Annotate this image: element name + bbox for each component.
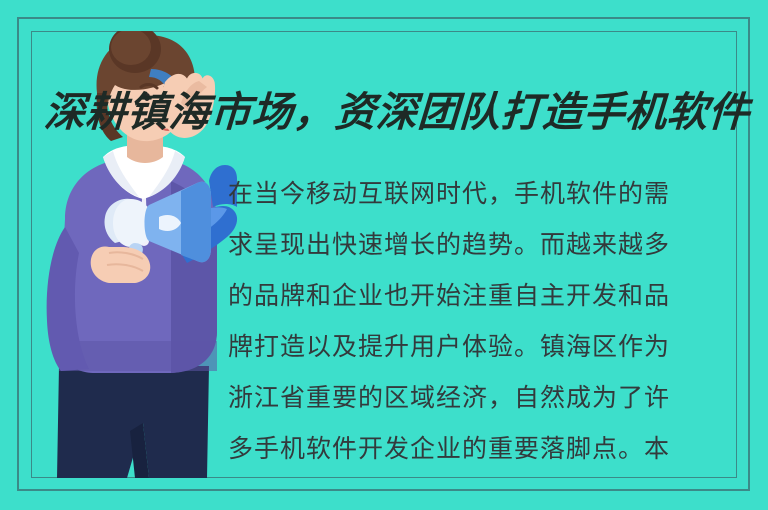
article-line: 牌打造以及提升用户体验。镇海区作为 bbox=[228, 321, 728, 372]
article-body: 在当今移动互联网时代，手机软件的需 求呈现出快速增长的趋势。而越来越多 的品牌和… bbox=[228, 168, 728, 474]
article-line: 的品牌和企业也开始注重自主开发和品 bbox=[228, 270, 728, 321]
article-line: 浙江省重要的区域经济，自然成为了许 bbox=[228, 372, 728, 423]
article-line: 在当今移动互联网时代，手机软件的需 bbox=[228, 168, 728, 219]
page-title: 深耕镇海市场，资深团队打造手机软件 bbox=[42, 83, 751, 143]
article-line: 多手机软件开发企业的重要落脚点。本 bbox=[228, 423, 728, 474]
article-line: 求呈现出快速增长的趋势。而越来越多 bbox=[228, 219, 728, 270]
poster-canvas: 深耕镇海市场，资深团队打造手机软件 在当今移动互联网时代，手机软件的需 求呈现出… bbox=[0, 0, 768, 510]
